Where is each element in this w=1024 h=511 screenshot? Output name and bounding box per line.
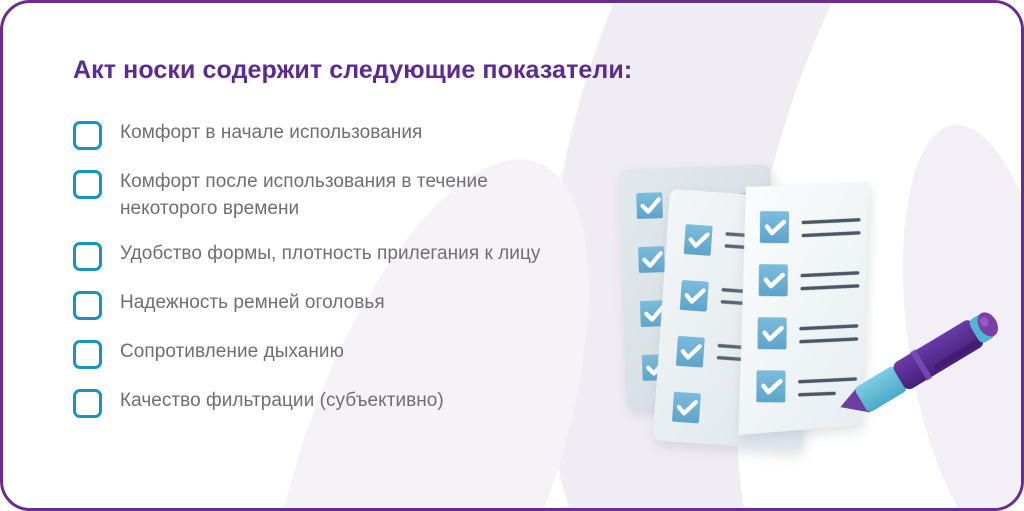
list-item-label: Сопротивление дыханию <box>120 338 344 365</box>
list-item-label: Комфорт в начале использования <box>120 119 422 146</box>
list-item-label: Комфорт после использования в течение не… <box>120 168 590 222</box>
list-item[interactable]: Удобство формы, плотность прилегания к л… <box>73 240 613 271</box>
checkbox-icon[interactable] <box>73 340 102 369</box>
checkbox-icon[interactable] <box>73 242 102 271</box>
checkbox-icon[interactable] <box>73 291 102 320</box>
list-item-label: Качество фильтрации (субъективно) <box>120 387 444 414</box>
list-item[interactable]: Надежность ремней оголовья <box>73 289 613 320</box>
checkbox-icon[interactable] <box>73 389 102 418</box>
info-card: Акт носки содержит следующие показатели:… <box>0 0 1024 511</box>
card-content: Акт носки содержит следующие показатели:… <box>3 3 1021 418</box>
list-item[interactable]: Качество фильтрации (субъективно) <box>73 387 613 418</box>
checkbox-icon[interactable] <box>73 121 102 150</box>
list-item-label: Надежность ремней оголовья <box>120 289 385 316</box>
page-title: Акт носки содержит следующие показатели: <box>73 55 1021 85</box>
list-item[interactable]: Сопротивление дыханию <box>73 338 613 369</box>
list-item[interactable]: Комфорт в начале использования <box>73 119 613 150</box>
list-item-label: Удобство формы, плотность прилегания к л… <box>120 240 540 267</box>
checkbox-icon[interactable] <box>73 170 102 199</box>
list-item[interactable]: Комфорт после использования в течение не… <box>73 168 613 222</box>
checklist: Комфорт в начале использования Комфорт п… <box>73 119 613 418</box>
